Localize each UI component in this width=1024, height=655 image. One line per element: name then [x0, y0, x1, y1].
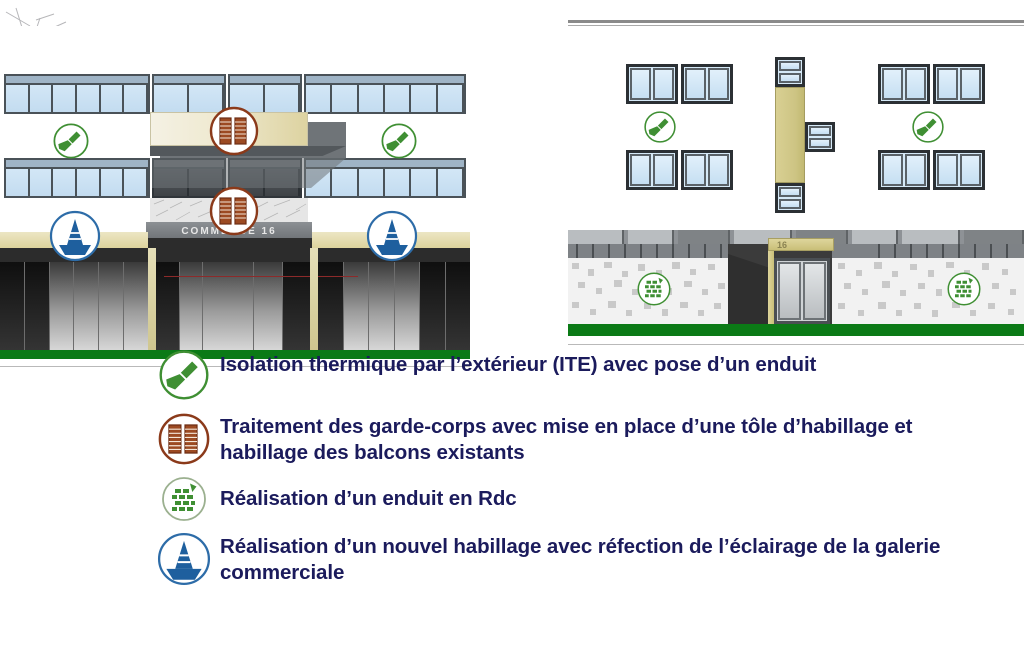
entrance-number: 16	[777, 240, 787, 250]
marker-shutter-icon-upper[interactable]	[208, 105, 260, 157]
marker-traffic-cone-icon-left[interactable]	[48, 209, 102, 263]
legend-item-enduit-rdc[interactable]: Réalisation d’un enduit en Rdc	[148, 474, 948, 524]
accent-line-red	[164, 276, 310, 277]
window-upper-left-a	[626, 64, 678, 104]
window-ribbon-upper-right	[304, 74, 466, 114]
marker-paintbrush-icon-upper-right[interactable]	[380, 122, 418, 160]
shopfront-pillar-2	[310, 248, 318, 350]
marker-paintbrush-icon-upper-left[interactable]	[52, 122, 90, 160]
legend-text: Isolation thermique par l’extérieur (ITE…	[220, 346, 816, 378]
marker-paintbrush-icon-right-left[interactable]	[643, 110, 677, 144]
marker-brick-trowel-icon-right[interactable]	[946, 271, 982, 307]
legend-item-garde-corps[interactable]: Traitement des garde-corps avec mise en …	[148, 408, 948, 470]
shopfront-glazing-left	[0, 262, 148, 350]
entrance-canopy: 16	[768, 238, 834, 251]
legend-text: Traitement des garde-corps avec mise en …	[220, 408, 948, 466]
page-root: COMMERCE 16	[0, 0, 1024, 655]
window-lower-left-a	[626, 150, 678, 190]
brick-trowel-icon	[160, 475, 208, 523]
legend-item-ite-enduit[interactable]: Isolation thermique par l’extérieur (ITE…	[148, 346, 948, 404]
ground-line-right	[568, 344, 1024, 345]
marker-brick-trowel-icon-left[interactable]	[636, 271, 672, 307]
elevations-area: COMMERCE 16	[0, 0, 1024, 345]
awning-fascia-center	[148, 238, 312, 262]
stair-window-bottom	[775, 183, 805, 213]
stair-window-landing	[805, 122, 835, 152]
ground-grass-strip-right	[568, 324, 1024, 336]
stair-tower-band	[775, 87, 805, 183]
traffic-cone-icon	[156, 531, 212, 587]
left-building-elevation: COMMERCE 16	[0, 0, 470, 345]
right-building-elevation: 16	[568, 0, 1024, 345]
paintbrush-icon	[158, 349, 210, 401]
window-lower-right-a	[878, 150, 930, 190]
left-building-facade: COMMERCE 16	[0, 26, 470, 326]
legend-text: Réalisation d’un nouvel habillage avec r…	[220, 528, 948, 586]
legend-icon-wrap	[148, 346, 220, 404]
window-upper-right-b	[933, 64, 985, 104]
legend-icon-wrap	[148, 408, 220, 470]
window-upper-left-b	[681, 64, 733, 104]
marker-paintbrush-icon-right-right[interactable]	[911, 110, 945, 144]
window-lower-left-b	[681, 150, 733, 190]
pebble-render-right	[832, 258, 1024, 324]
legend-icon-wrap	[148, 528, 220, 590]
accent-line-red-2	[318, 276, 358, 277]
entrance-door[interactable]	[774, 258, 830, 324]
window-upper-right-a	[878, 64, 930, 104]
stair-window-top	[775, 57, 805, 87]
window-ribbon-mid-left	[4, 158, 150, 198]
marker-traffic-cone-icon-right[interactable]	[365, 209, 419, 263]
legend-list: Isolation thermique par l’extérieur (ITE…	[148, 346, 948, 594]
window-lower-right-b	[933, 150, 985, 190]
legend-text: Réalisation d’un enduit en Rdc	[220, 474, 517, 512]
marker-shutter-icon-lower[interactable]	[208, 185, 260, 237]
shutter-icon	[157, 412, 211, 466]
shopfront-pillar-1	[148, 248, 156, 350]
window-ribbon-upper-left	[4, 74, 150, 114]
legend-item-habillage-galerie[interactable]: Réalisation d’un nouvel habillage avec r…	[148, 528, 948, 590]
legend-icon-wrap	[148, 474, 220, 524]
